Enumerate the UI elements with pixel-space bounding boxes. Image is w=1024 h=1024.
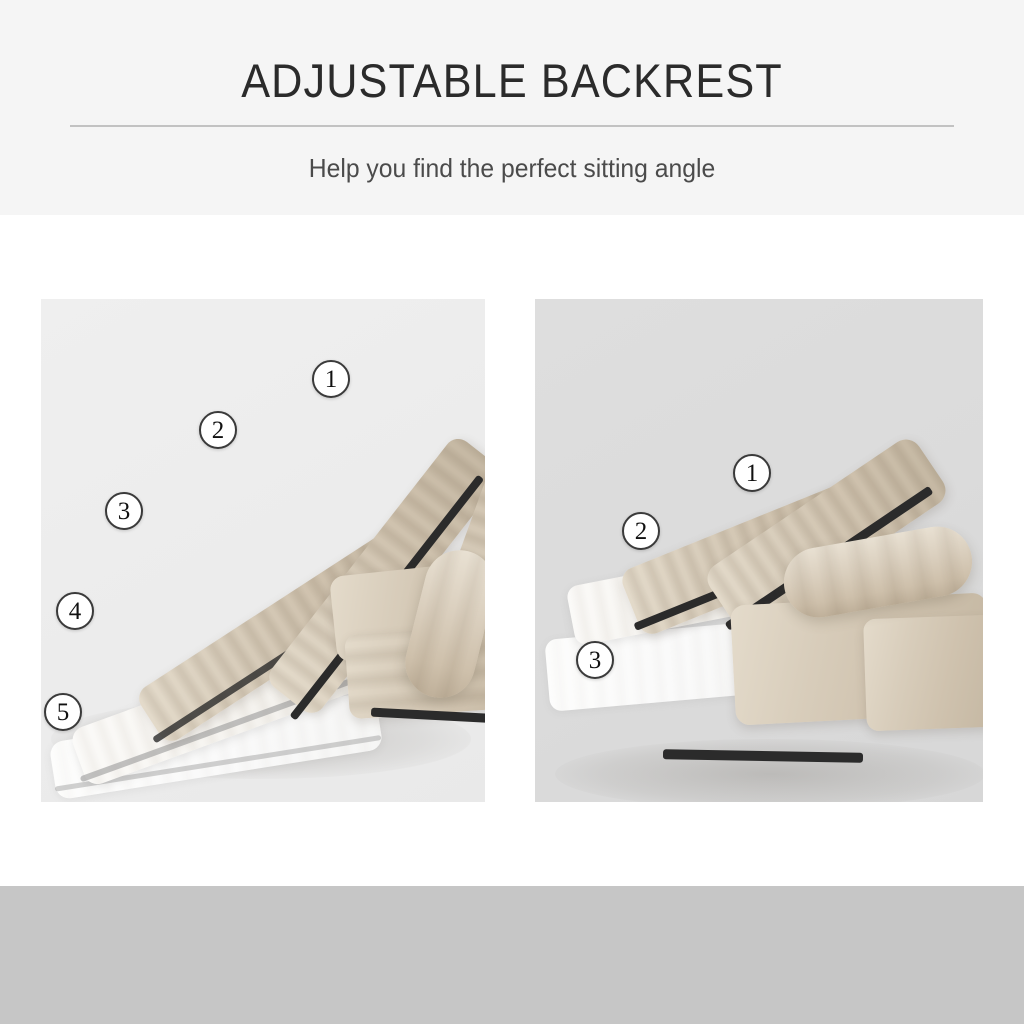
panel-three-position-reclined-view (535, 299, 983, 802)
sofa-illustration-right (535, 299, 983, 802)
callout-left-1[interactable]: 1 (312, 360, 350, 398)
callout-right-1[interactable]: 1 (733, 454, 771, 492)
title-divider (70, 125, 954, 127)
ground-shadow (555, 739, 983, 802)
callout-right-3[interactable]: 3 (576, 641, 614, 679)
callout-left-3[interactable]: 3 (105, 492, 143, 530)
bottom-band (0, 886, 1024, 1024)
page-title: ADJUSTABLE BACKREST (41, 52, 983, 110)
callout-left-4[interactable]: 4 (56, 592, 94, 630)
callout-right-2[interactable]: 2 (622, 512, 660, 550)
panel-five-position-backrest-fan (41, 299, 485, 802)
seat-mattress-extension (863, 615, 983, 731)
page-subtitle: Help you find the perfect sitting angle (26, 151, 999, 185)
callout-left-5[interactable]: 5 (44, 693, 82, 731)
sofa-illustration-left (41, 299, 485, 802)
callout-left-2[interactable]: 2 (199, 411, 237, 449)
